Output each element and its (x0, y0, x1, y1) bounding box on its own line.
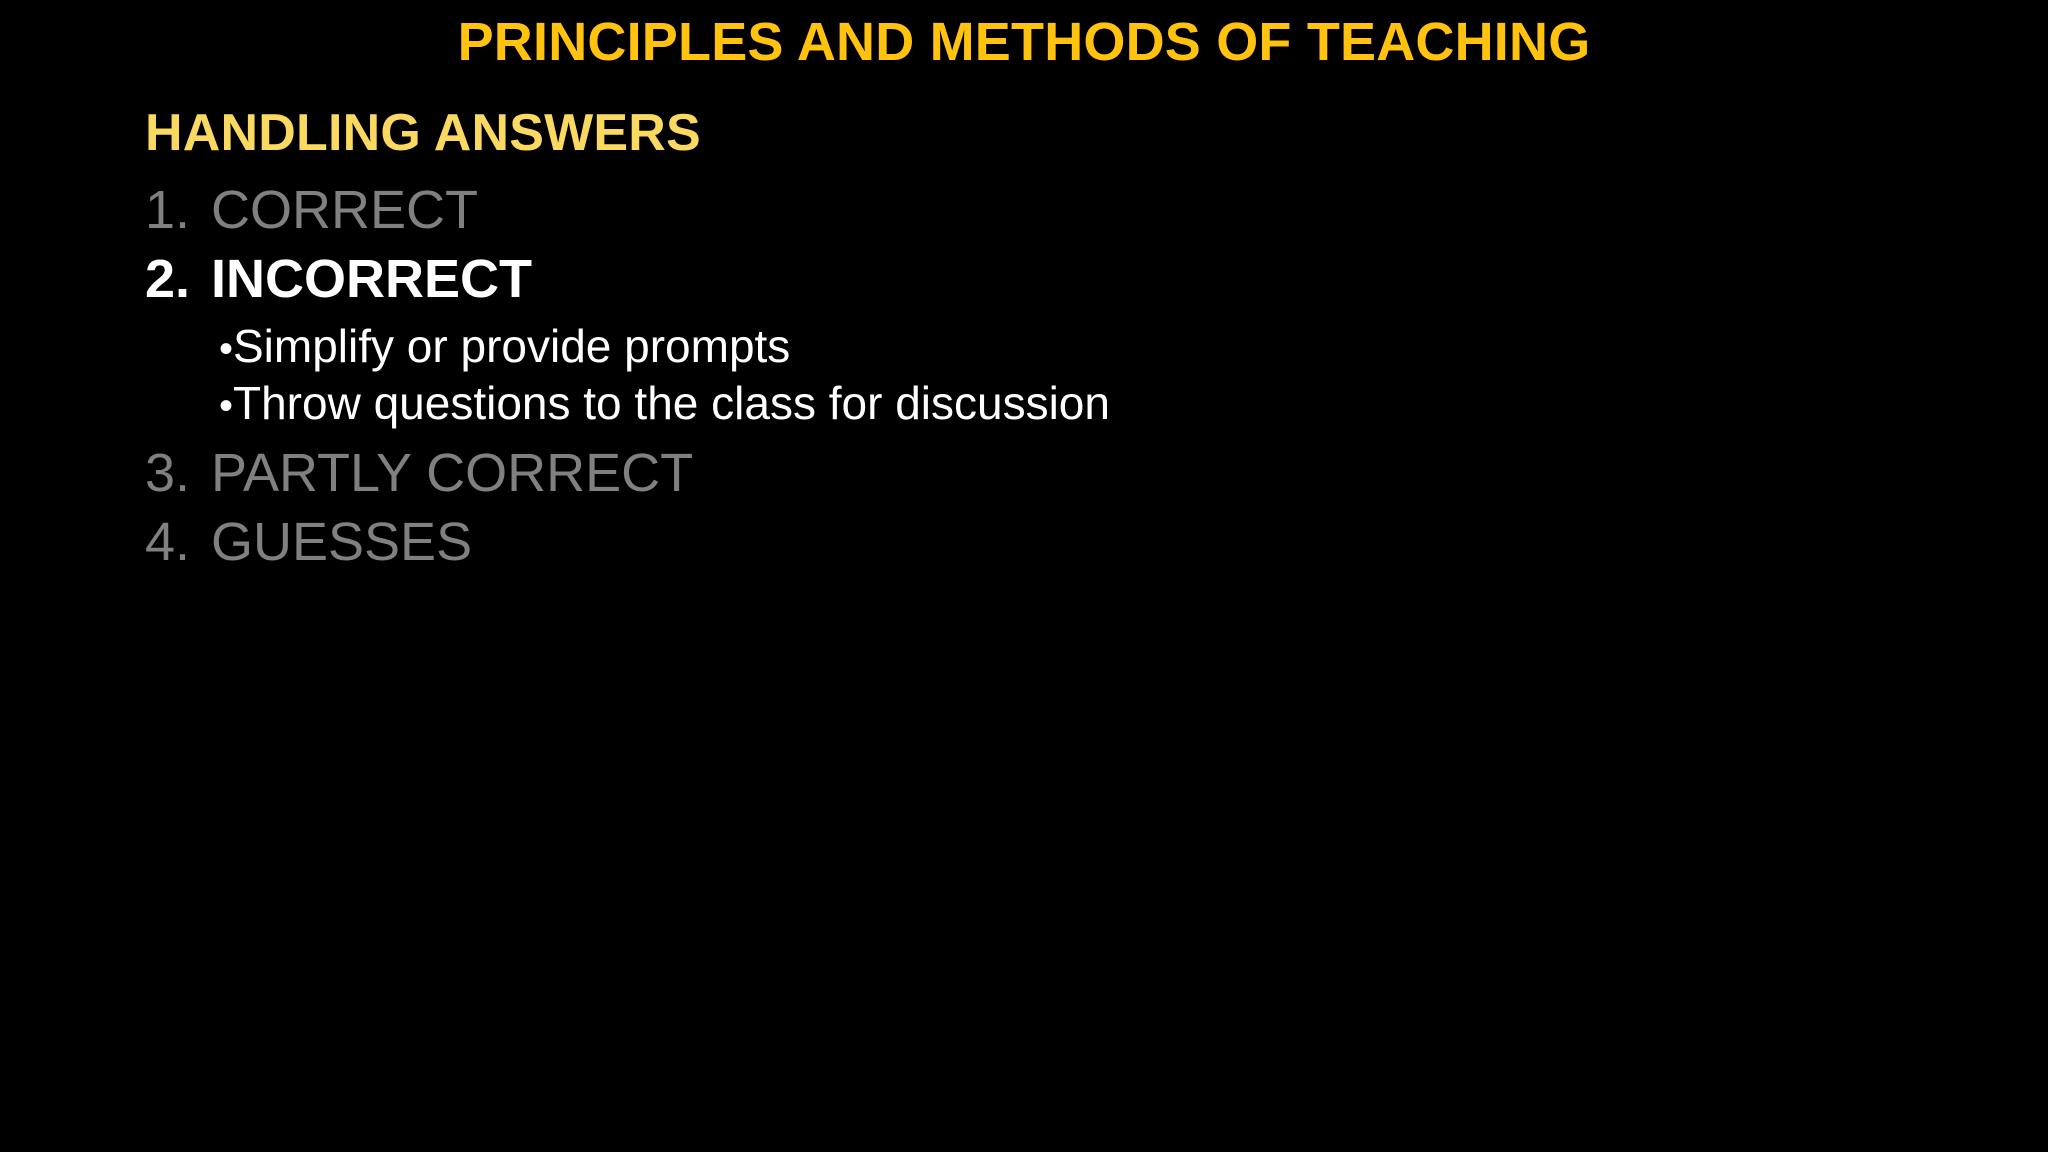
sub-bullet-list: • Simplify or provide prompts • Throw qu… (145, 318, 1985, 432)
sub-list-item-text: Throw questions to the class for discuss… (233, 375, 1110, 432)
list-item-sublist-wrapper: • Simplify or provide prompts • Throw qu… (145, 318, 1985, 432)
slide-body: HANDLING ANSWERS 1. CORRECT 2. INCORRECT… (145, 104, 1985, 577)
list-item-label: PARTLY CORRECT (211, 439, 693, 508)
sub-list-item: • Simplify or provide prompts (145, 318, 1985, 375)
list-item-label: INCORRECT (211, 245, 532, 314)
sub-list-item: • Throw questions to the class for discu… (145, 375, 1985, 432)
bullet-dot-icon: • (145, 386, 233, 426)
list-item-number: 1. (145, 176, 211, 245)
list-item-label: GUESSES (211, 508, 472, 577)
list-item-number: 2. (145, 245, 211, 314)
slide-header-title: PRINCIPLES AND METHODS OF TEACHING (0, 14, 2048, 71)
bullet-dot-icon: • (145, 329, 233, 369)
sub-list-item-text: Simplify or provide prompts (233, 318, 790, 375)
presentation-slide: PRINCIPLES AND METHODS OF TEACHING HANDL… (0, 0, 2048, 1152)
list-item-number: 4. (145, 508, 211, 577)
list-item: 4. GUESSES (145, 508, 1985, 577)
handling-answers-list: 1. CORRECT 2. INCORRECT • Simplify or pr… (145, 176, 1985, 577)
list-item-number: 3. (145, 439, 211, 508)
list-item-label: CORRECT (211, 176, 478, 245)
section-heading: HANDLING ANSWERS (145, 104, 1985, 162)
list-item: 2. INCORRECT (145, 245, 1985, 314)
list-item: 3. PARTLY CORRECT (145, 439, 1985, 508)
list-item: 1. CORRECT (145, 176, 1985, 245)
